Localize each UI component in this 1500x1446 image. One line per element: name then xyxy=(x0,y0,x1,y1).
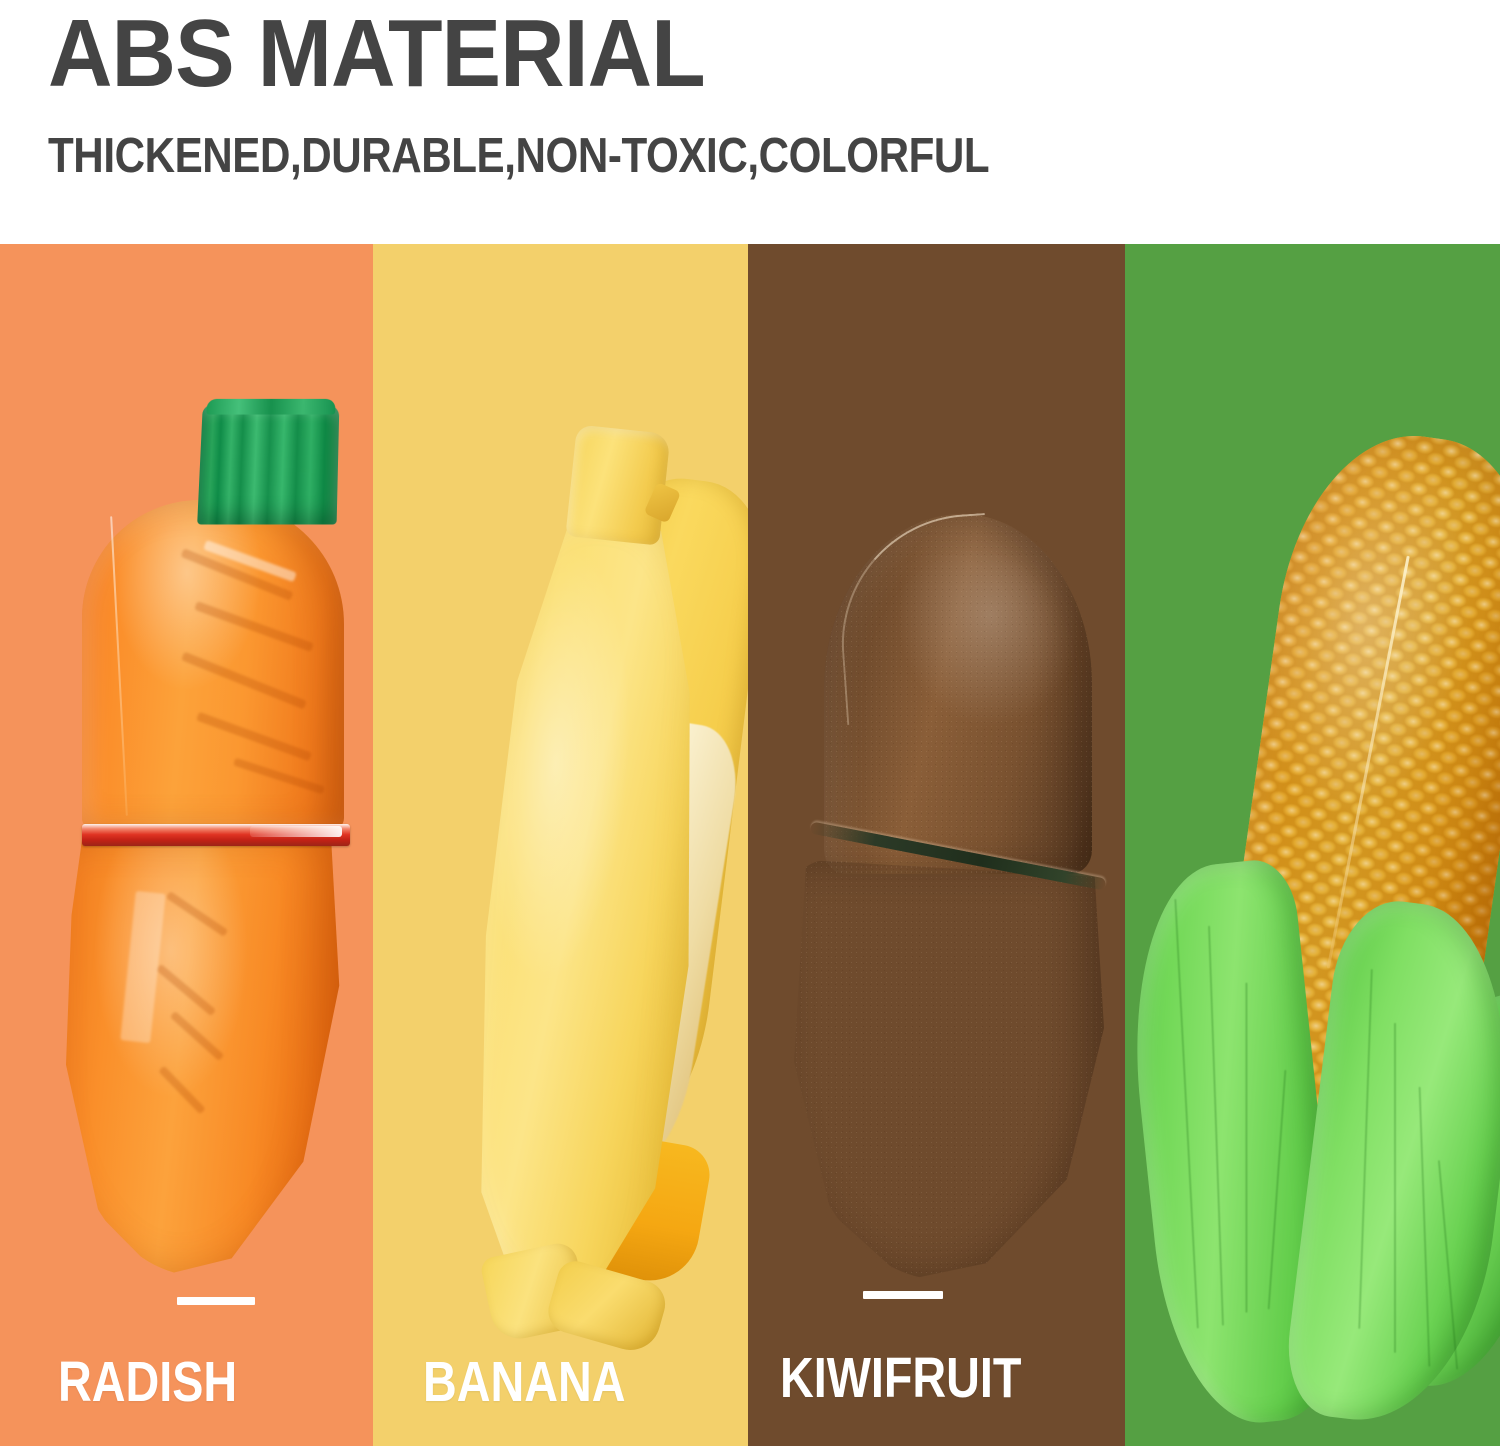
carrot-rib xyxy=(166,891,229,937)
header-banner: ABS MATERIAL THICKENED,DURABLE,NON-TOXIC… xyxy=(0,0,1500,244)
panel-radish[interactable]: RADISH xyxy=(0,244,373,1446)
panel-label-radish: RADISH xyxy=(58,1352,237,1412)
headline-abs-material: ABS MATERIAL xyxy=(48,2,705,106)
panel-banana[interactable]: BANANA xyxy=(373,244,748,1446)
carrot-rib xyxy=(233,758,325,795)
carrot-rib xyxy=(170,1011,224,1061)
kiwifruit-lower-half xyxy=(794,860,1104,1280)
husk-vein xyxy=(1419,1087,1431,1367)
kiwifruit-skin-texture xyxy=(794,860,1104,1280)
husk-vein xyxy=(1394,1023,1396,1353)
panel-corn[interactable]: CORN xyxy=(1125,244,1500,1446)
panel-label-kiwifruit: KIWIFRUIT xyxy=(780,1348,1021,1408)
banana-stem xyxy=(565,424,670,545)
carrot-lower-half xyxy=(66,836,342,1276)
husk-vein xyxy=(1438,1160,1458,1369)
kiwifruit-upper-half xyxy=(824,514,1092,874)
carrot-green-top xyxy=(197,405,339,525)
product-panel-row: RADISH BANANA xyxy=(0,244,1500,1446)
carrot-rib xyxy=(194,601,314,652)
label-block-radish: RADISH xyxy=(0,1250,373,1446)
carrot-rib xyxy=(158,1066,205,1115)
product-image-corn xyxy=(1125,244,1500,1446)
husk-vein xyxy=(1174,899,1199,1329)
carrot-rib xyxy=(156,964,216,1016)
label-block-kiwifruit: KIWIFRUIT xyxy=(748,1250,1125,1446)
label-dash-icon xyxy=(863,1291,943,1299)
kiwifruit-skin-texture xyxy=(824,514,1092,874)
husk-vein xyxy=(1208,926,1224,1326)
carrot-rib xyxy=(181,652,307,710)
carrot-split-line xyxy=(82,824,350,846)
husk-vein xyxy=(1358,969,1373,1329)
panel-kiwifruit[interactable]: KIWIFRUIT xyxy=(748,244,1125,1446)
carrot-rib xyxy=(196,712,312,761)
husk-vein xyxy=(1245,983,1247,1313)
label-dash-icon xyxy=(177,1297,255,1305)
husk-vein xyxy=(1268,1070,1287,1310)
toy-corn-figure xyxy=(1125,434,1500,1444)
carrot-seam xyxy=(110,516,128,816)
subheadline-features: THICKENED,DURABLE,NON-TOXIC,COLORFUL xyxy=(48,128,989,184)
carrot-upper-half xyxy=(82,500,344,830)
panel-label-banana: BANANA xyxy=(423,1352,626,1412)
